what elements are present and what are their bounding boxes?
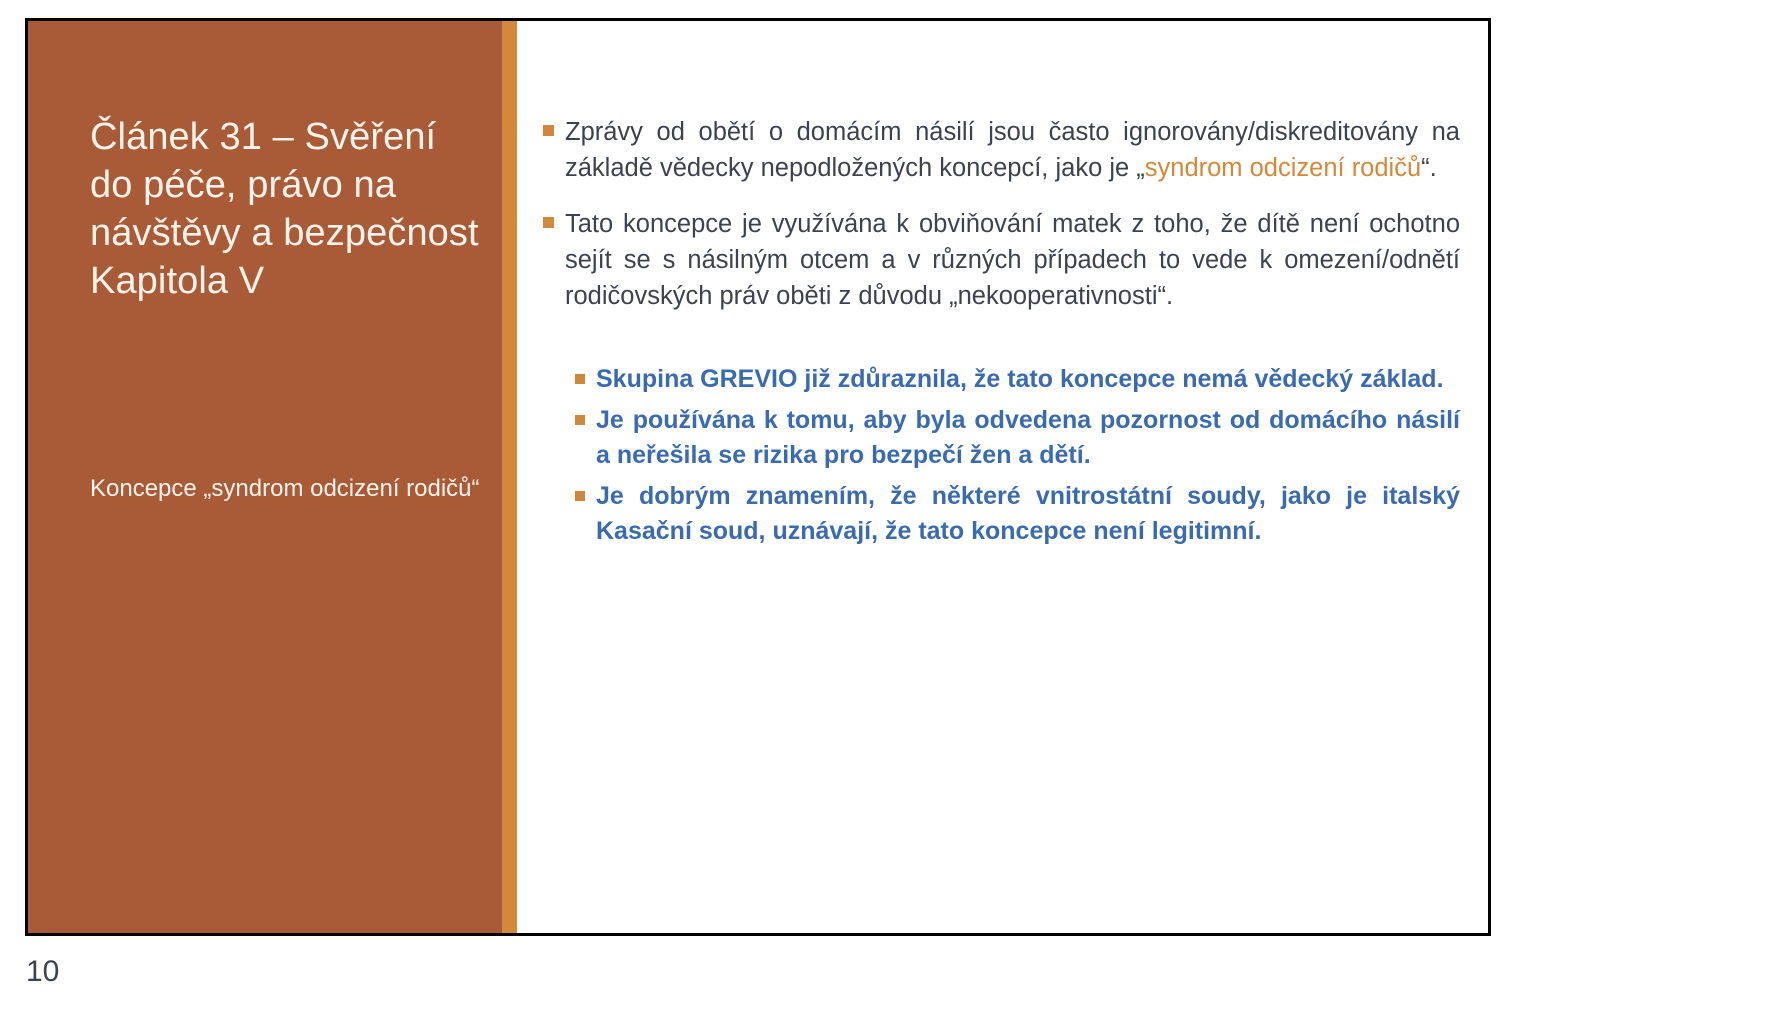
bullet-list-secondary: Skupina GREVIO již zdůraznila, že tato k…	[543, 362, 1460, 549]
title-panel: Článek 31 – Svěření do péče, právo na ná…	[28, 21, 517, 933]
text-run: “.	[1421, 154, 1437, 182]
list-item: Je dobrým znamením, že některé vnitrostá…	[575, 479, 1460, 549]
list-item-label: Je dobrým znamením, že některé vnitrostá…	[596, 479, 1460, 549]
list-item-label: Skupina GREVIO již zdůraznila, že tato k…	[596, 362, 1460, 397]
list-item: Skupina GREVIO již zdůraznila, že tato k…	[575, 362, 1460, 397]
list-item-label: Zprávy od obětí o domácím násilí jsou ča…	[565, 114, 1460, 186]
slide-frame: Článek 31 – Svěření do péče, právo na ná…	[25, 18, 1491, 936]
list-item-label: Je používána k tomu, aby byla odvedena p…	[596, 403, 1460, 473]
text-run: Tato koncepce je využívána k obviňování …	[565, 210, 1460, 310]
text-run: Je používána k tomu, aby byla odvedena p…	[596, 406, 1460, 469]
text-run: Je dobrým znamením, že některé vnitrostá…	[596, 482, 1460, 545]
slide-number: 10	[26, 955, 59, 989]
square-bullet-icon	[575, 374, 585, 384]
text-run: Skupina GREVIO již zdůraznila, že tato k…	[596, 365, 1444, 393]
list-item: Zprávy od obětí o domácím násilí jsou ča…	[543, 114, 1460, 186]
list-item-label: Tato koncepce je využívána k obviňování …	[565, 206, 1460, 314]
accent-stripe	[502, 21, 517, 933]
square-bullet-icon	[575, 491, 585, 501]
list-item: Je používána k tomu, aby byla odvedena p…	[575, 403, 1460, 473]
page-title: Článek 31 – Svěření do péče, právo na ná…	[90, 113, 480, 305]
page-subtitle: Koncepce „syndrom odcizení rodičů“	[90, 473, 490, 505]
list-item: Tato koncepce je využívána k obviňování …	[543, 206, 1460, 314]
square-bullet-icon	[575, 415, 585, 425]
square-bullet-icon	[543, 217, 554, 228]
body-panel: Zprávy od obětí o domácím násilí jsou ča…	[517, 21, 1488, 933]
slide-root: Článek 31 – Svěření do péče, právo na ná…	[0, 0, 1786, 1013]
square-bullet-icon	[543, 125, 554, 136]
highlighted-term: syndrom odcizení rodičů	[1145, 154, 1421, 182]
bullet-list-primary: Zprávy od obětí o domácím násilí jsou ča…	[543, 114, 1460, 314]
